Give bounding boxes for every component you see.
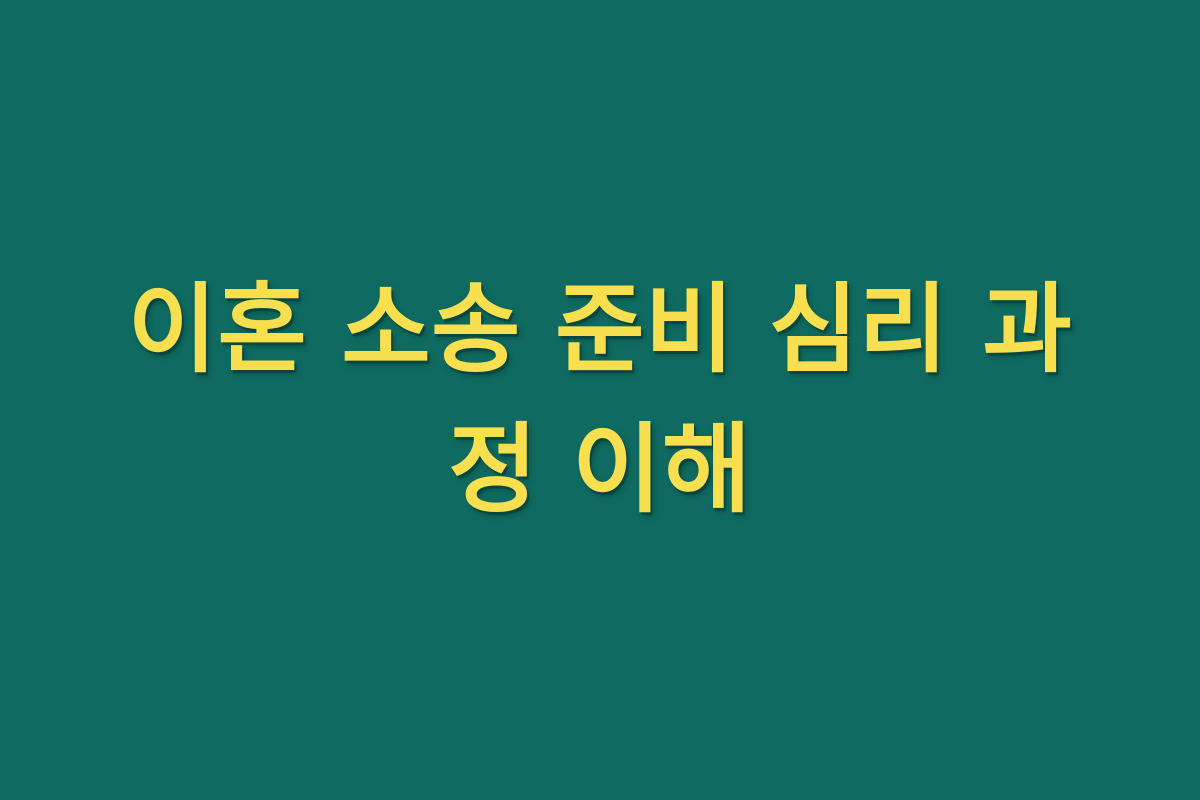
title-block: 이혼 소송 준비 심리 과 정 이해 <box>95 260 1105 539</box>
title-banner: 이혼 소송 준비 심리 과 정 이해 <box>0 0 1200 800</box>
page-title: 이혼 소송 준비 심리 과 정 이해 <box>105 260 1095 539</box>
